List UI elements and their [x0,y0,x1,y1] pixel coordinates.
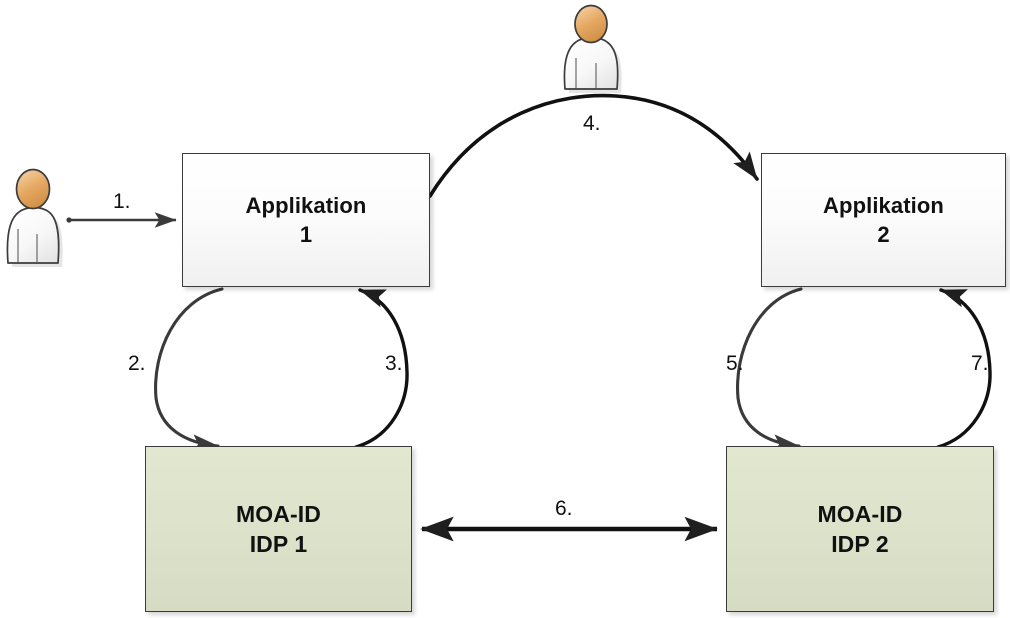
edge-3-label: 3. [385,352,403,376]
applikation-2-label-line1: Applikation [823,191,944,220]
diagram-canvas: Applikation 1 Applikation 2 MOA-ID IDP 1… [0,0,1010,618]
applikation-1-box[interactable]: Applikation 1 [182,153,430,287]
edge-5-path [738,289,801,446]
applikation-2-box[interactable]: Applikation 2 [761,153,1006,287]
user-actor-left-icon [7,170,62,268]
edge-2-path [156,289,222,446]
edge-1-path [66,217,176,222]
applikation-1-label-line1: Applikation [246,191,367,220]
applikation-1-label-line2: 1 [300,220,312,249]
moa-id-idp-1-label-line1: MOA-ID [236,499,321,529]
applikation-2-label-line2: 2 [877,220,889,249]
edge-7-label: 7. [971,352,989,376]
moa-id-idp-1-label-line2: IDP 1 [250,529,308,559]
edge-4-label: 4. [583,112,601,136]
moa-id-idp-2-label-line2: IDP 2 [831,529,889,559]
edge-5-label: 5. [726,352,744,376]
edge-2-label: 2. [128,352,146,376]
edge-1-label: 1. [113,190,131,214]
edge-6-label: 6. [555,497,573,521]
moa-id-idp-1-box[interactable]: MOA-ID IDP 1 [145,446,412,612]
user-actor-top-icon [564,6,621,94]
moa-id-idp-2-label-line1: MOA-ID [818,499,903,529]
moa-id-idp-2-box[interactable]: MOA-ID IDP 2 [726,446,994,612]
edge-4-path [430,96,757,196]
